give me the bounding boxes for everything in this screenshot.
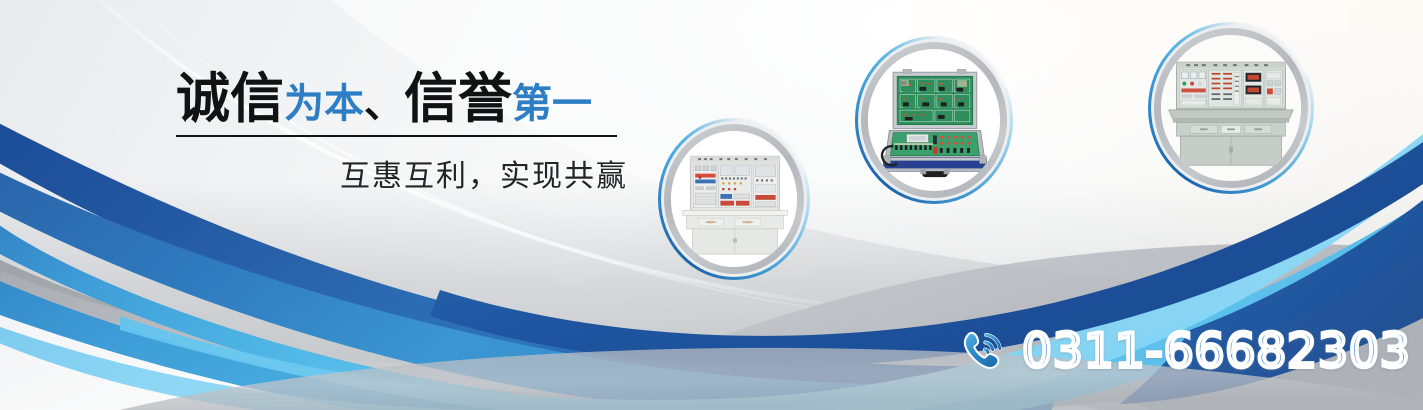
headline-divider <box>176 135 617 137</box>
medallion-photo-frame <box>1161 35 1301 181</box>
headline-block: 诚信为本、信誉第一 互惠互利，实现共赢 <box>176 72 628 195</box>
contact-block[interactable]: 0311-66682303 <box>958 326 1411 376</box>
headline-part-1: 诚信 <box>176 67 284 130</box>
medallion-photo-frame <box>868 49 1000 191</box>
subheadline: 互惠互利，实现共赢 <box>176 151 628 195</box>
phone-icon <box>958 326 1008 376</box>
page-title: 诚信为本、信誉第一 <box>176 72 628 126</box>
headline-part-3: 信誉 <box>404 67 512 130</box>
promo-banner: 诚信为本、信誉第一 互惠互利，实现共赢 <box>0 0 1423 410</box>
headline-comma: 、 <box>364 81 404 127</box>
headline-part-2: 为本 <box>284 81 364 127</box>
medallion-portable-electronics-training-case[interactable] <box>855 36 1013 204</box>
product-image-workbench <box>671 131 797 267</box>
product-image-console <box>1161 35 1301 181</box>
phone-number[interactable]: 0311-66682303 <box>1022 328 1411 375</box>
medallion-photo-frame <box>671 131 797 267</box>
medallion-control-console-workbench[interactable] <box>1148 22 1314 194</box>
medallion-electrical-training-workbench[interactable] <box>658 118 810 280</box>
product-image-training-case <box>868 49 1000 191</box>
headline-part-4: 第一 <box>512 81 592 127</box>
